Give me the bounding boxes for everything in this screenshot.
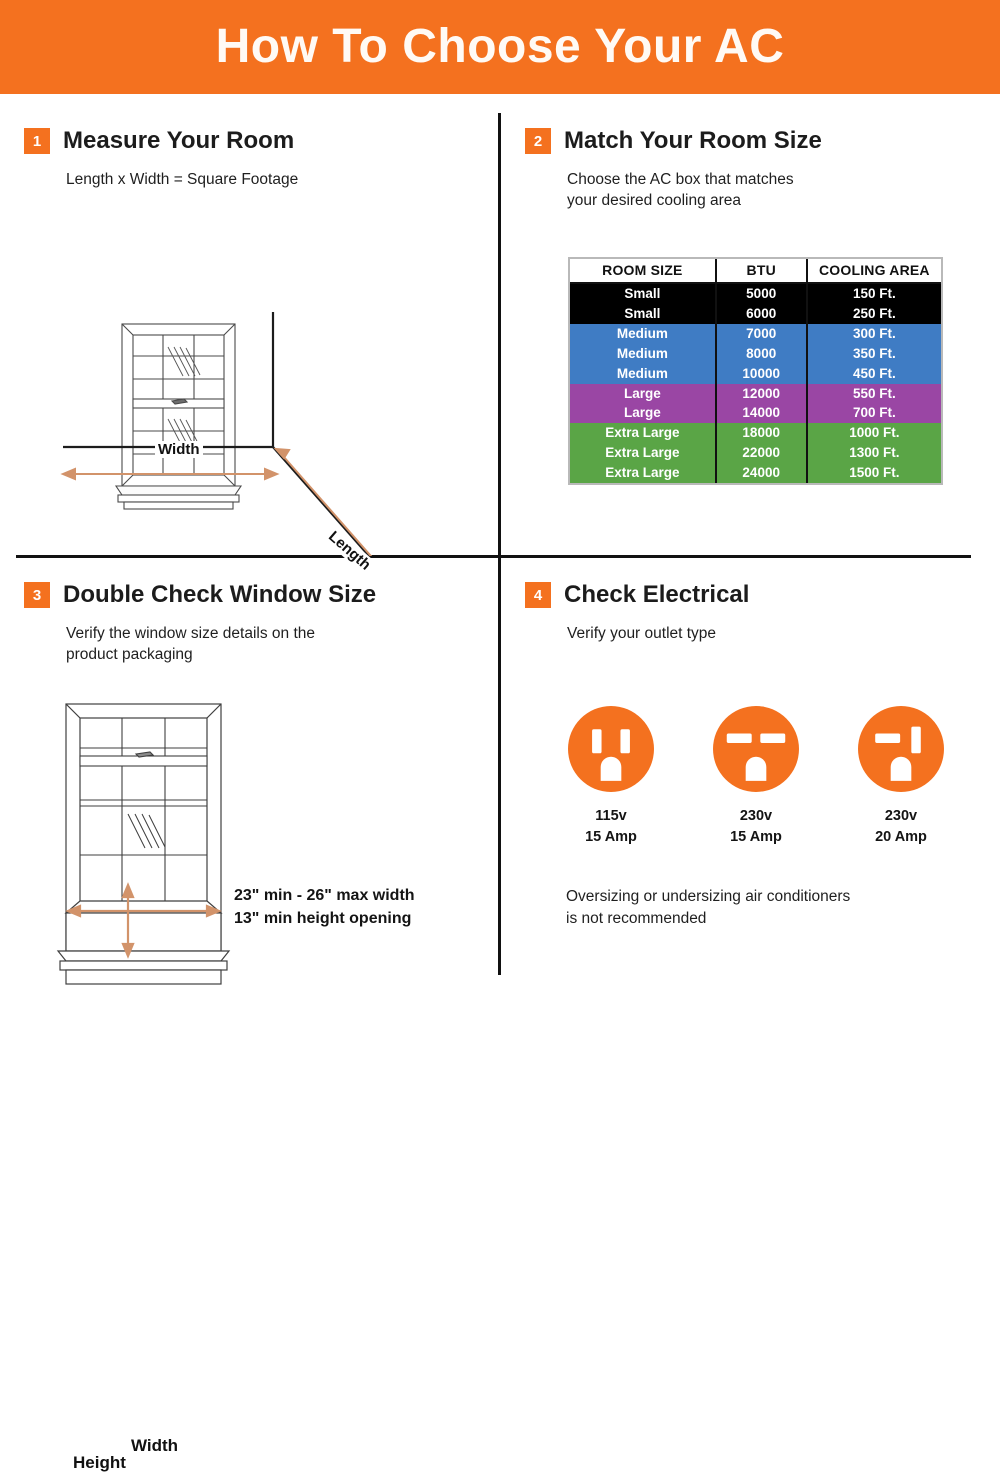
step-2-subtitle: Choose the AC box that matches your desi…: [567, 170, 1000, 212]
cell-room-size: Extra Large: [570, 443, 716, 463]
cell-cooling-area: 1500 Ft.: [807, 463, 941, 483]
cell-btu: 7000: [716, 324, 807, 344]
cell-btu: 22000: [716, 443, 807, 463]
cell-room-size: Medium: [570, 364, 716, 384]
window-dimension-arrows: [62, 878, 262, 968]
table-row: Extra Large220001300 Ft.: [570, 443, 941, 463]
btu-table: ROOM SIZE BTU COOLING AREA Small5000150 …: [570, 259, 941, 483]
table-row: Large14000700 Ft.: [570, 403, 941, 423]
cell-cooling-area: 1000 Ft.: [807, 423, 941, 443]
btu-table-header-row: ROOM SIZE BTU COOLING AREA: [570, 259, 941, 283]
cell-cooling-area: 150 Ft.: [807, 283, 941, 304]
cell-btu: 24000: [716, 463, 807, 483]
step-4-title: Check Electrical: [564, 583, 749, 607]
cell-room-size: Medium: [570, 344, 716, 364]
table-row: Medium8000350 Ft.: [570, 344, 941, 364]
table-row: Medium10000450 Ft.: [570, 364, 941, 384]
btu-table-container: ROOM SIZE BTU COOLING AREA Small5000150 …: [568, 257, 943, 485]
step-4-heading: 4 Check Electrical: [501, 558, 1000, 608]
room-diagram-svg: [0, 104, 498, 556]
outlet-mixed-slots-icon: [858, 706, 944, 792]
outlet-label-3: 230v 20 Amp: [875, 806, 927, 847]
table-row: Medium7000300 Ft.: [570, 324, 941, 344]
cell-room-size: Small: [570, 283, 716, 304]
cell-cooling-area: 1300 Ft.: [807, 443, 941, 463]
outlet-two-vertical-slots-icon: [568, 706, 654, 792]
sizing-recommendation-note: Oversizing or undersizing air conditione…: [566, 886, 850, 929]
height-arrow-step3: [123, 885, 133, 956]
step-4-number-badge: 4: [525, 582, 551, 608]
cell-cooling-area: 350 Ft.: [807, 344, 941, 364]
outlet-115v-15amp: 115v 15 Amp: [556, 706, 666, 856]
step-2-heading: 2 Match Your Room Size: [501, 104, 1000, 154]
page-header: How To Choose Your AC: [0, 0, 1000, 94]
window-size-diagram: Width Height: [0, 558, 498, 1000]
column-header-cooling-area: COOLING AREA: [807, 259, 941, 283]
cell-btu: 6000: [716, 304, 807, 324]
page-title: How To Choose Your AC: [216, 23, 785, 71]
cell-btu: 14000: [716, 403, 807, 423]
step-2-number-badge: 2: [525, 128, 551, 154]
btu-table-head: ROOM SIZE BTU COOLING AREA: [570, 259, 941, 283]
cell-btu: 12000: [716, 384, 807, 404]
height-label-step3: Height: [70, 1453, 129, 1473]
cell-room-size: Medium: [570, 324, 716, 344]
cell-room-size: Large: [570, 384, 716, 404]
width-arrow-step3: [68, 906, 219, 916]
cell-cooling-area: 450 Ft.: [807, 364, 941, 384]
outlet-230v-20amp: 230v 20 Amp: [846, 706, 956, 856]
cell-cooling-area: 300 Ft.: [807, 324, 941, 344]
cell-room-size: Extra Large: [570, 423, 716, 443]
width-label-step3: Width: [128, 1436, 181, 1456]
cell-room-size: Extra Large: [570, 463, 716, 483]
cell-room-size: Large: [570, 403, 716, 423]
cell-room-size: Small: [570, 304, 716, 324]
column-header-btu: BTU: [716, 259, 807, 283]
cell-cooling-area: 250 Ft.: [807, 304, 941, 324]
step-2-title: Match Your Room Size: [564, 129, 822, 153]
column-header-room-size: ROOM SIZE: [570, 259, 716, 283]
cell-cooling-area: 550 Ft.: [807, 384, 941, 404]
table-row: Large12000550 Ft.: [570, 384, 941, 404]
outlet-label-2: 230v 15 Amp: [730, 806, 782, 847]
table-row: Small6000250 Ft.: [570, 304, 941, 324]
window-illustration: [116, 324, 241, 509]
cell-btu: 8000: [716, 344, 807, 364]
window-size-note: 23" min - 26" max width 13" min height o…: [234, 884, 415, 930]
btu-table-body: Small5000150 Ft.Small6000250 Ft.Medium70…: [570, 283, 941, 482]
cell-btu: 10000: [716, 364, 807, 384]
outlet-two-horizontal-slots-icon: [713, 706, 799, 792]
cell-cooling-area: 700 Ft.: [807, 403, 941, 423]
outlet-230v-15amp: 230v 15 Amp: [701, 706, 811, 856]
cell-btu: 18000: [716, 423, 807, 443]
width-label-step1: Width: [155, 441, 203, 458]
table-row: Extra Large240001500 Ft.: [570, 463, 941, 483]
room-measure-diagram: Width Length: [0, 104, 498, 556]
room-corner-lines: [63, 312, 420, 556]
outlet-label-1: 115v 15 Amp: [585, 806, 637, 847]
table-row: Extra Large180001000 Ft.: [570, 423, 941, 443]
table-row: Small5000150 Ft.: [570, 283, 941, 304]
cell-btu: 5000: [716, 283, 807, 304]
outlet-types-group: 115v 15 Amp 230v 15 Amp 230v 20 Amp: [556, 706, 956, 856]
infographic-page: How To Choose Your AC 1 Measure Your Roo…: [0, 0, 1000, 1000]
step-4-subtitle: Verify your outlet type: [567, 624, 1000, 645]
